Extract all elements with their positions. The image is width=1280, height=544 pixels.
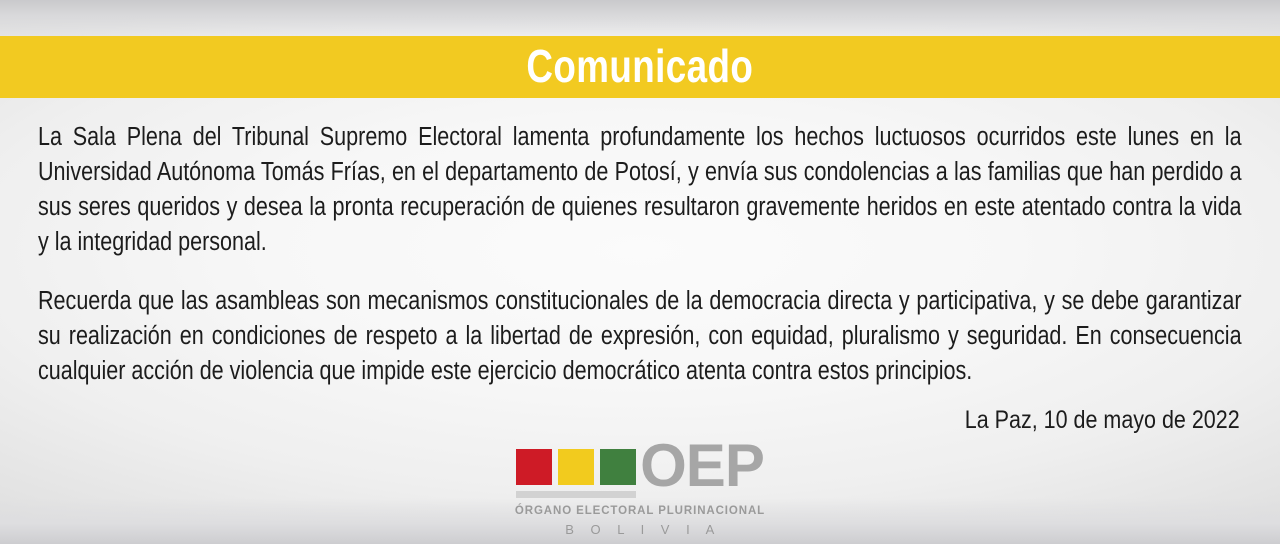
flag-underbar xyxy=(516,491,636,498)
communique-body: La Sala Plena del Tribunal Supremo Elect… xyxy=(38,120,1242,389)
body-paragraph-1: La Sala Plena del Tribunal Supremo Elect… xyxy=(38,120,1242,260)
logo-mark: OEP xyxy=(516,446,764,498)
logo-acronym: OEP xyxy=(640,442,764,490)
flag-squares xyxy=(516,449,636,485)
page-title: Comunicado xyxy=(527,43,754,92)
communique-card: Comunicado La Sala Plena del Tribunal Su… xyxy=(0,0,1280,544)
yellow-square-icon xyxy=(558,449,594,485)
logo-tagline: ÓRGANO ELECTORAL PLURINACIONAL xyxy=(515,505,765,517)
red-square-icon xyxy=(516,449,552,485)
dateline: La Paz, 10 de mayo de 2022 xyxy=(965,404,1240,436)
green-square-icon xyxy=(600,449,636,485)
flag-icon xyxy=(516,446,636,498)
body-paragraph-2: Recuerda que las asambleas son mecanismo… xyxy=(38,284,1242,389)
oep-logo: OEP ÓRGANO ELECTORAL PLURINACIONAL B O L… xyxy=(0,446,1280,537)
header-banner: Comunicado xyxy=(0,36,1280,98)
logo-country: B O L I V I A xyxy=(559,522,721,537)
